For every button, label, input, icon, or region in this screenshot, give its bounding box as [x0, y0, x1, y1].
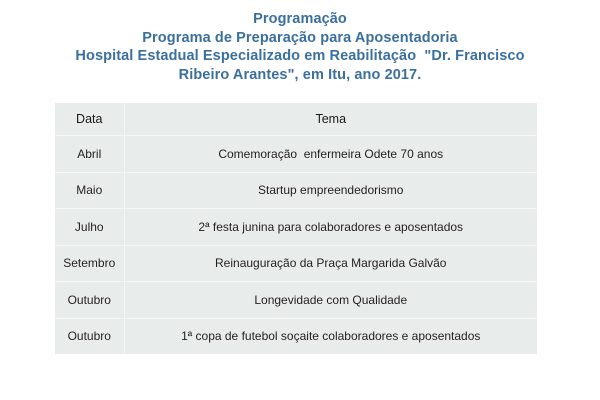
cell-theme: Startup empreendedorismo [124, 172, 537, 209]
table-row: Julho 2ª festa junina para colaboradores… [55, 209, 537, 246]
cell-theme: Comemoração enfermeira Odete 70 anos [124, 136, 537, 173]
cell-date: Outubro [55, 282, 124, 319]
cell-theme: Longevidade com Qualidade [124, 282, 537, 319]
schedule-table-container: Data Tema Abril Comemoração enfermeira O… [55, 103, 537, 348]
cell-date: Julho [55, 209, 124, 246]
cell-theme: 2ª festa junina para colaboradores e apo… [124, 209, 537, 246]
table-row: Setembro Reinauguração da Praça Margarid… [55, 245, 537, 282]
table-body: Abril Comemoração enfermeira Odete 70 an… [55, 136, 537, 355]
schedule-table: Data Tema Abril Comemoração enfermeira O… [55, 103, 537, 354]
cell-date: Abril [55, 136, 124, 173]
slide-canvas: Programação Programa de Preparação para … [0, 0, 600, 400]
title-line-4: Ribeiro Arantes", em Itu, ano 2017. [0, 66, 600, 85]
table-row: Outubro Longevidade com Qualidade [55, 282, 537, 319]
table-row: Maio Startup empreendedorismo [55, 172, 537, 209]
page-title: Programação Programa de Preparação para … [0, 10, 600, 84]
cell-date: Setembro [55, 245, 124, 282]
cell-date: Outubro [55, 318, 124, 354]
cell-theme: 1ª copa de futebol soçaite colaboradores… [124, 318, 537, 354]
table-row: Abril Comemoração enfermeira Odete 70 an… [55, 136, 537, 173]
column-header-data: Data [55, 103, 124, 136]
cell-theme: Reinauguração da Praça Margarida Galvão [124, 245, 537, 282]
title-line-1: Programação [0, 10, 600, 29]
column-header-tema: Tema [124, 103, 537, 136]
title-line-3: Hospital Estadual Especializado em Reabi… [0, 47, 600, 66]
title-line-2: Programa de Preparação para Aposentadori… [0, 29, 600, 48]
cell-date: Maio [55, 172, 124, 209]
table-header: Data Tema [55, 103, 537, 136]
table-row: Outubro 1ª copa de futebol soçaite colab… [55, 318, 537, 354]
table-header-row: Data Tema [55, 103, 537, 136]
